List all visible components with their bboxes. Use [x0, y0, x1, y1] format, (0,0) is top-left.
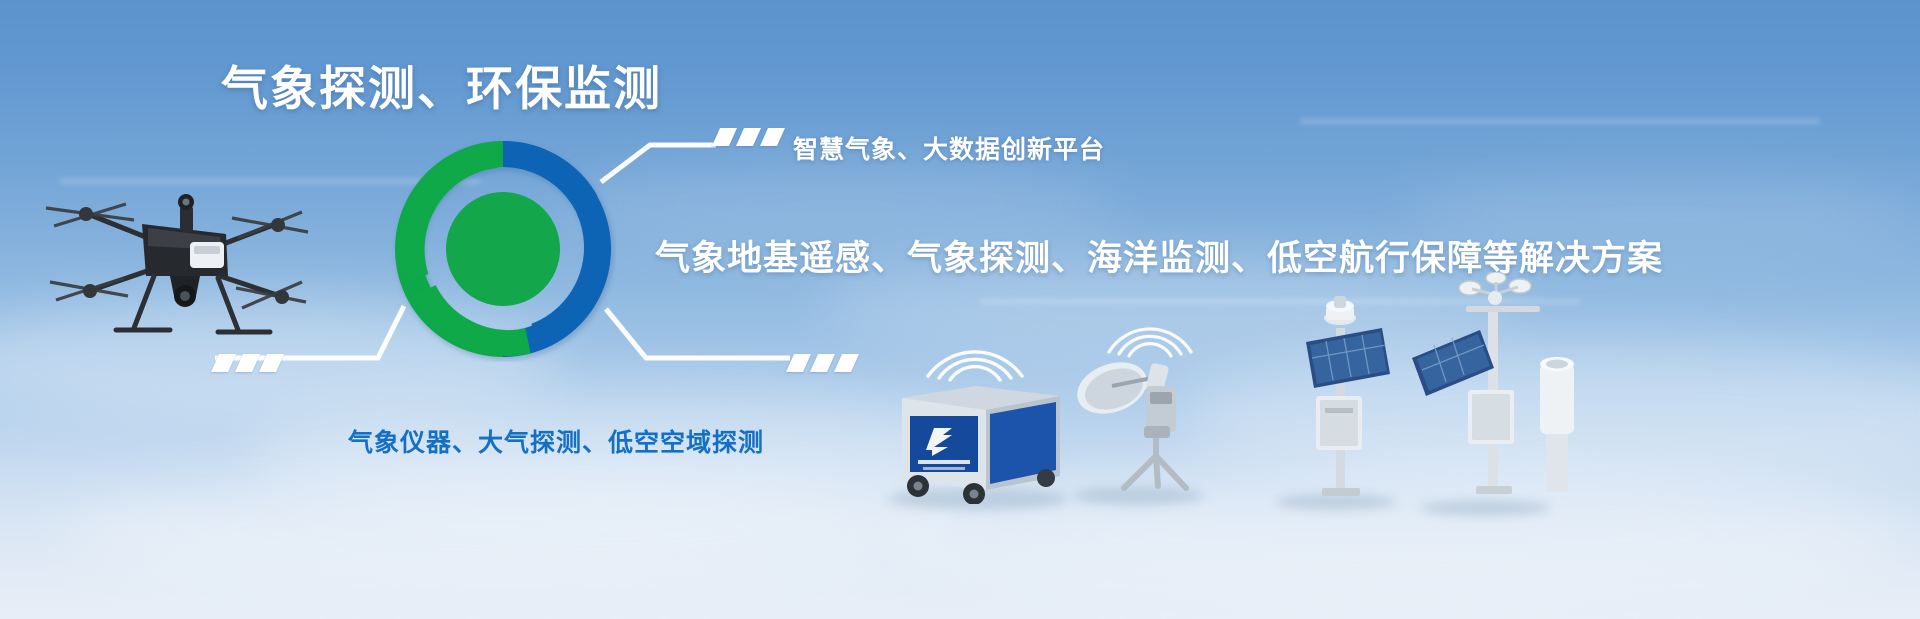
callout-bottom: 气象仪器、大气探测、低空空域探测 [348, 423, 764, 459]
signal-waves-icon [1095, 302, 1205, 362]
donut-logo [390, 136, 616, 362]
banner-root: 气象探测、环保监测 智慧气象、大数据创新平台 气象地基遥感、气象探测、海洋监测、… [0, 0, 1920, 619]
signal-waves-icon [920, 316, 1030, 386]
satellite-dish-photo [1060, 352, 1220, 492]
slash-marks-left [215, 354, 280, 372]
cloud [60, 470, 960, 590]
mobile-lidar-unit-photo [890, 382, 1070, 504]
callout-top: 智慧气象、大数据创新平台 [793, 130, 1105, 166]
cloud-streak [1300, 120, 1820, 123]
page-title: 气象探测、环保监测 [221, 50, 662, 119]
slash-marks-top [716, 128, 781, 146]
anemometer-mast-photo [1400, 272, 1590, 512]
drone-photo [30, 150, 310, 350]
slash-marks-right [790, 354, 855, 372]
solar-weather-station-photo [1270, 288, 1420, 500]
